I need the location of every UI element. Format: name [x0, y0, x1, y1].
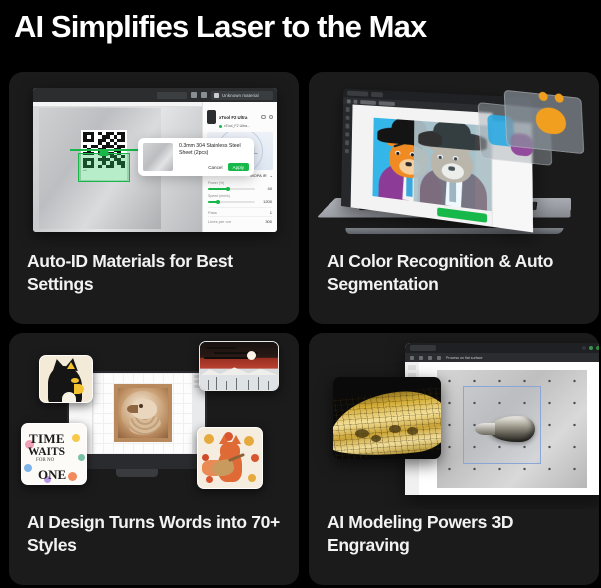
power-slider-row[interactable]: 40 [208, 186, 272, 191]
typography-line-4: ONE [38, 467, 66, 483]
tool-group-icon[interactable] [360, 100, 376, 105]
speed-value: 1200 [259, 199, 272, 204]
power-value: 40 [259, 186, 272, 191]
vase-3d-object[interactable] [489, 416, 535, 442]
style-thumbnail-cat[interactable] [39, 355, 93, 403]
style-thumbnail-typography[interactable]: TIME WAITS FOR NO ONE [21, 423, 87, 485]
window-close-icon[interactable] [596, 346, 599, 350]
laser-software-window: Unknown material ▪▪▪▪ [33, 88, 277, 232]
text-tool-icon[interactable] [345, 124, 349, 129]
work-plate-grid [437, 370, 587, 488]
material-thumbnail [143, 143, 173, 171]
undo-icon[interactable] [437, 356, 441, 360]
power-slider-knob[interactable] [226, 187, 230, 191]
refresh-icon[interactable] [261, 115, 266, 120]
process-mode-label: Process on flat surface [446, 356, 483, 360]
speed-label: Speed (mm/s) [208, 194, 272, 198]
window-maximize-icon[interactable] [589, 346, 593, 350]
select-tool-icon[interactable] [346, 107, 350, 112]
device-connection: xTool_F2 Ultra... [219, 124, 258, 128]
speed-slider-track[interactable] [208, 201, 255, 203]
settings-icon[interactable] [269, 115, 274, 120]
card-media-3d-modeling: Process on flat surface [309, 333, 599, 509]
speed-slider-knob[interactable] [216, 200, 220, 204]
style-thumbnail-sunset[interactable] [199, 341, 279, 391]
segmentation-layer-2 [504, 90, 585, 155]
gold-mesh-preview [333, 377, 441, 459]
feature-card-grid: Unknown material ▪▪▪▪ [9, 72, 592, 585]
parameter-list: Power (%) 40 Speed (mm/s) [203, 180, 277, 226]
device-icon [207, 110, 216, 124]
pen-tool-icon[interactable] [345, 140, 349, 145]
extracted-tiger-head [535, 106, 566, 135]
lines-value: 300 [265, 219, 272, 224]
software-toolbar: Unknown material [33, 88, 277, 102]
layers-icon[interactable] [408, 365, 416, 370]
feature-card-color-recognition[interactable]: AI Color Recognition & Auto Segmentation [309, 72, 599, 324]
material-chip-label: Unknown material [222, 93, 259, 98]
lightbulb-icon[interactable] [191, 92, 197, 98]
pass-row[interactable]: Pass 1 [208, 207, 272, 216]
cancel-button[interactable]: Cancel [208, 165, 222, 170]
curved-surface [333, 387, 441, 459]
laptop-illustration [327, 86, 581, 242]
relief-canvas[interactable] [93, 373, 192, 454]
feature-card-auto-id[interactable]: Unknown material ▪▪▪▪ [9, 72, 299, 324]
rotate-icon[interactable] [428, 356, 432, 360]
card-caption-3d-modeling: AI Modeling Powers 3D Engraving [327, 511, 585, 558]
speed-slider-row[interactable]: 1200 [208, 199, 272, 204]
material-swatch-icon [214, 93, 219, 98]
selection-box[interactable] [78, 153, 130, 182]
app-tab[interactable] [347, 91, 368, 97]
card-media-auto-id: Unknown material ▪▪▪▪ [9, 72, 299, 248]
app-tab[interactable] [371, 92, 383, 98]
selection-handle[interactable] [100, 149, 109, 156]
image-tool-icon[interactable] [345, 132, 349, 137]
window-minimize-icon[interactable] [582, 346, 586, 350]
chevron-down-icon: ⌄ [270, 173, 273, 178]
device-name: xTool F2 Ultra [219, 115, 247, 120]
mode-label-icon[interactable] [379, 101, 395, 106]
card-caption-color-recognition: AI Color Recognition & Auto Segmentation [327, 250, 585, 297]
modeling-stage[interactable] [419, 362, 599, 495]
project-tab[interactable] [410, 345, 436, 351]
typography-line-2: WAITS [28, 446, 65, 458]
modeling-tabbar [405, 343, 599, 353]
card-media-color-recognition [309, 72, 599, 248]
pass-label: Pass [208, 210, 217, 215]
feature-card-design-styles[interactable]: TIME WAITS FOR NO ONE [9, 333, 299, 585]
ai-tool-icon[interactable] [345, 148, 349, 153]
apply-button[interactable]: Apply [228, 163, 250, 171]
lines-row[interactable]: Lines per cm 300 [208, 216, 272, 225]
typography-line-1: TIME [29, 431, 65, 447]
artwork-canvas[interactable] [351, 105, 492, 227]
material-name: 0.3mm 304 Stainless Steel Sheet (2pcs) [179, 143, 249, 157]
typography-line-3: FOR NO [36, 458, 54, 463]
redo-icon[interactable] [354, 99, 358, 103]
pass-value: 1 [270, 210, 272, 215]
status-dot-icon [219, 125, 222, 128]
monitor-stand [116, 469, 158, 477]
power-label: Power (%) [208, 181, 272, 185]
modeling-toolbar: Process on flat surface [405, 353, 599, 362]
page-title: AI Simplifies Laser to the Max [0, 0, 601, 45]
card-caption-auto-id: Auto-ID Materials for Best Settings [27, 250, 285, 297]
device-row[interactable]: xTool F2 Ultra xTool_F2 Ultra... [203, 102, 277, 131]
feature-card-3d-modeling[interactable]: Process on flat surface [309, 333, 599, 585]
canvas-ruler [33, 102, 202, 107]
material-apply-dialog[interactable]: 0.3mm 304 Stainless Steel Sheet (2pcs) C… [138, 138, 254, 176]
power-slider-track[interactable] [208, 188, 255, 190]
undo-icon[interactable] [347, 99, 351, 103]
style-thumbnail-fox[interactable] [197, 427, 263, 489]
page-root: AI Simplifies Laser to the Max Unknown m… [0, 0, 601, 588]
shape-tool-icon[interactable] [345, 115, 349, 120]
card-caption-design-styles: AI Design Turns Words into 70+ Styles [27, 511, 285, 558]
dimension-input[interactable] [157, 92, 187, 99]
grid-icon[interactable] [410, 356, 414, 360]
material-chip[interactable]: Unknown material [211, 91, 273, 100]
align-icon[interactable] [419, 356, 423, 360]
eagle-relief-artwork [114, 384, 172, 442]
lines-label: Lines per cm [208, 219, 231, 224]
camera-icon[interactable] [201, 92, 207, 98]
wireframe-overlay [333, 387, 441, 459]
card-media-design-styles: TIME WAITS FOR NO ONE [9, 333, 299, 509]
